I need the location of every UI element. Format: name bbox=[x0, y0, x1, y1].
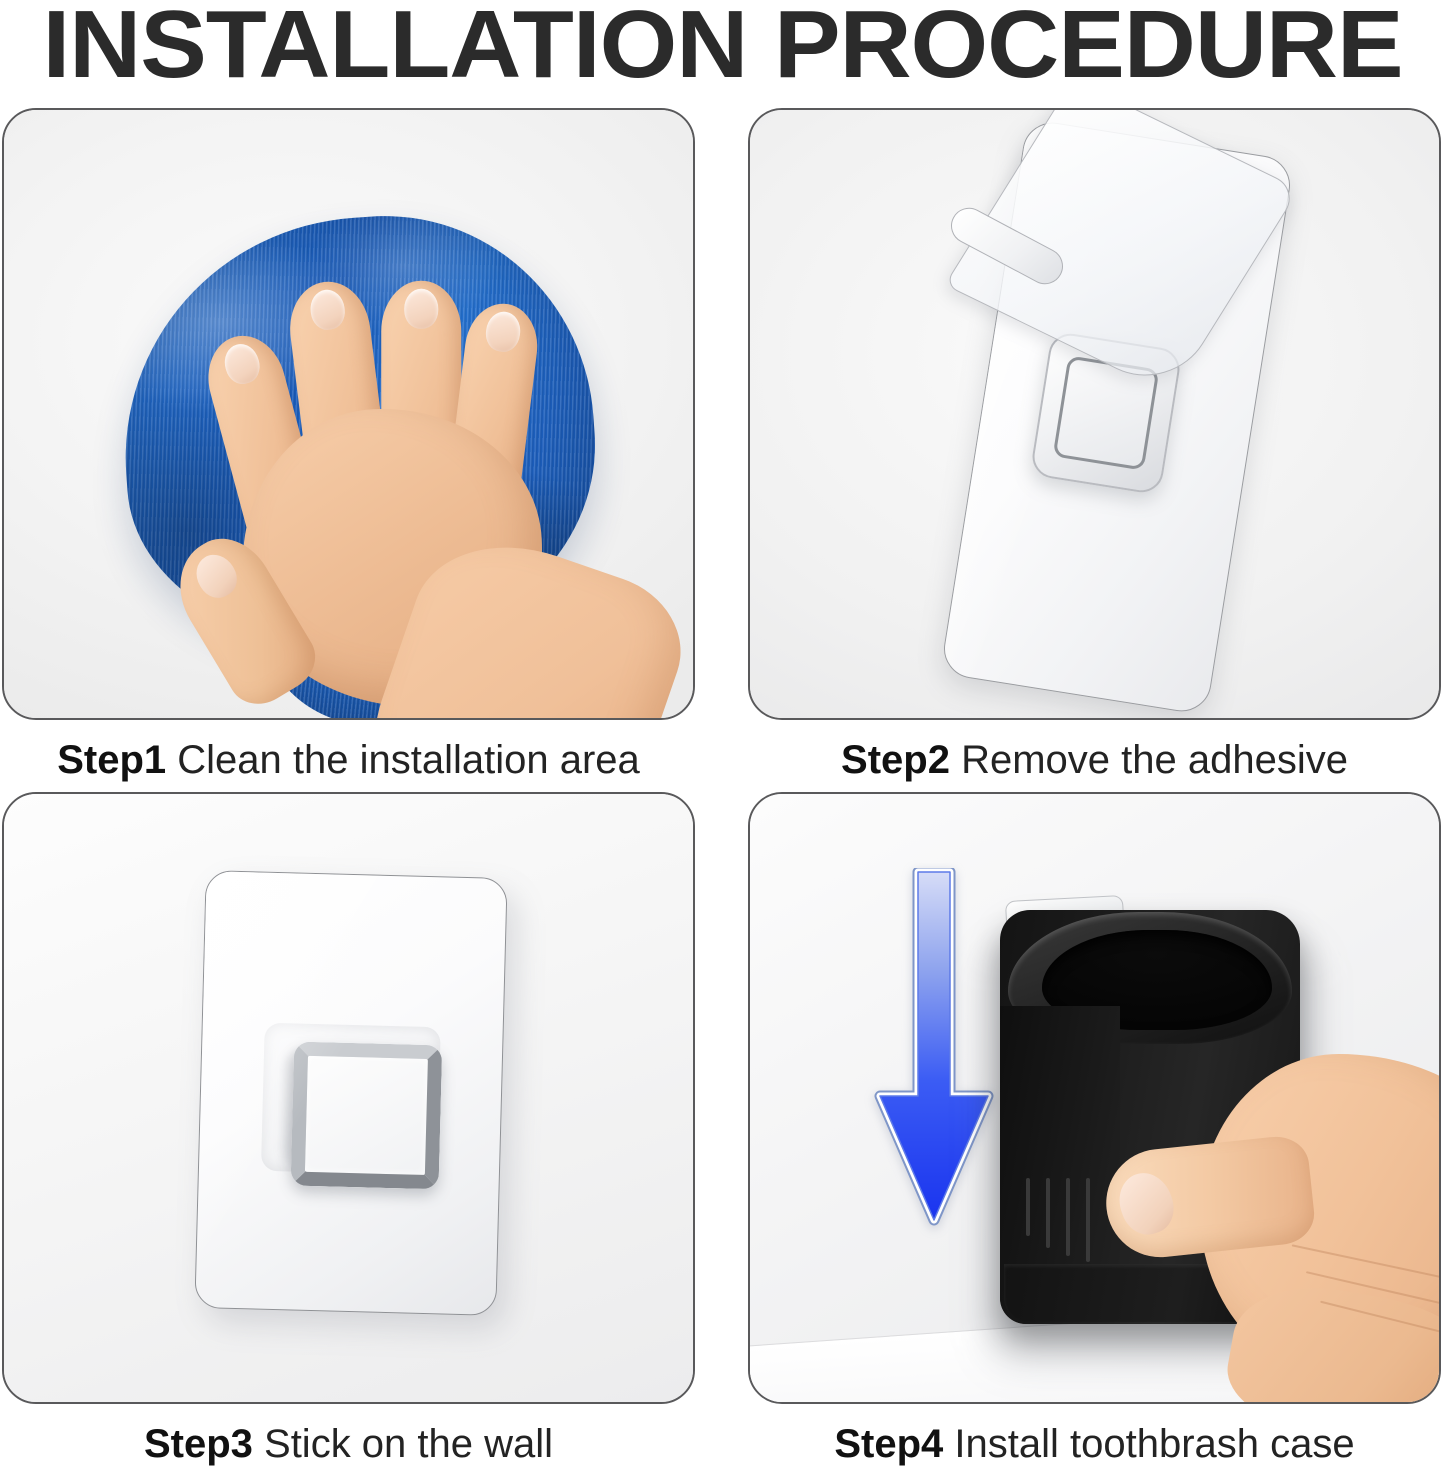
hand-holding-cup-icon bbox=[1080, 994, 1441, 1404]
step-card-2: Step2 Remove the adhesive bbox=[748, 108, 1443, 788]
step-4-image-panel bbox=[748, 792, 1441, 1404]
mounted-adhesive-sticker-icon bbox=[194, 870, 507, 1316]
drainage-slot bbox=[1066, 1178, 1070, 1256]
step-3-label: Step3 bbox=[144, 1422, 253, 1466]
sticker-center-recess bbox=[261, 1023, 441, 1176]
bracket-drop-shadow bbox=[283, 1049, 414, 1172]
step-card-4: Step4 Install toothbrash case bbox=[748, 792, 1443, 1472]
step-4-description: Install toothbrash case bbox=[954, 1422, 1354, 1466]
square-wall-bracket bbox=[291, 1041, 443, 1189]
steps-grid: Step1 Clean the installation area Step2 bbox=[0, 108, 1445, 1476]
fingernail bbox=[220, 340, 263, 387]
step-card-3: Step3 Stick on the wall bbox=[2, 792, 697, 1472]
down-arrow-icon bbox=[868, 868, 1000, 1238]
step-1-image-panel bbox=[2, 108, 695, 720]
drainage-slot bbox=[1046, 1178, 1050, 1248]
step-4-label: Step4 bbox=[834, 1422, 943, 1466]
step-2-image-panel bbox=[748, 108, 1441, 720]
step-1-label: Step1 bbox=[57, 738, 166, 782]
drainage-slot bbox=[1026, 1178, 1030, 1236]
step-3-description: Stick on the wall bbox=[264, 1422, 553, 1466]
step-1-caption: Step1 Clean the installation area bbox=[2, 732, 695, 788]
step-2-caption: Step2 Remove the adhesive bbox=[748, 732, 1441, 788]
step-1-description: Clean the installation area bbox=[177, 738, 640, 782]
step-2-description: Remove the adhesive bbox=[961, 738, 1348, 782]
thumbnail bbox=[1111, 1166, 1181, 1242]
step-2-label: Step2 bbox=[841, 738, 950, 782]
thumbnail bbox=[189, 547, 244, 604]
page-title: INSTALLATION PROCEDURE bbox=[0, 0, 1445, 96]
steps-row-bottom: Step3 Stick on the wall bbox=[0, 792, 1445, 1476]
steps-row-top: Step1 Clean the installation area Step2 bbox=[0, 108, 1445, 792]
fingernail bbox=[404, 289, 438, 329]
step-3-image-panel bbox=[2, 792, 695, 1404]
thumb bbox=[1101, 1134, 1317, 1263]
fingernail bbox=[484, 310, 523, 354]
installation-procedure-infographic: INSTALLATION PROCEDURE bbox=[0, 0, 1445, 1464]
fingernail bbox=[308, 288, 347, 332]
step-card-1: Step1 Clean the installation area bbox=[2, 108, 697, 788]
hand-cleaning-icon bbox=[170, 219, 629, 720]
